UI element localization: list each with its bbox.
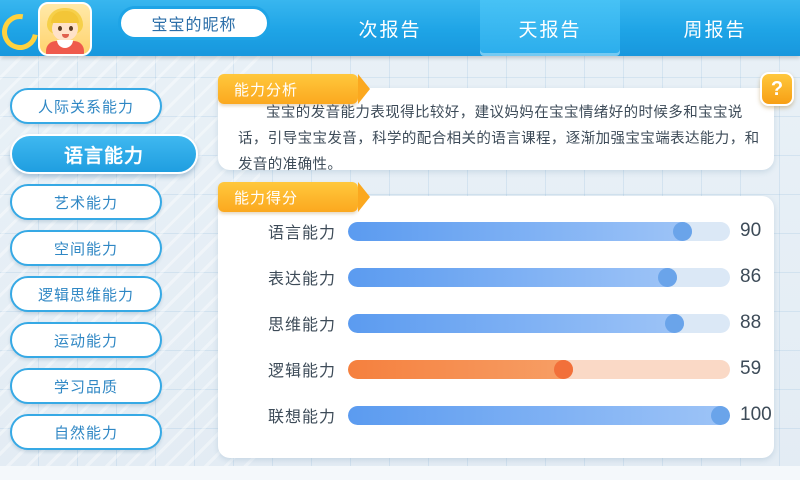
- score-row: 语言能力90: [218, 208, 774, 254]
- tab-day-report[interactable]: 天报告: [480, 0, 620, 56]
- score-bar-track: [348, 314, 730, 333]
- score-bar-knob: [554, 360, 573, 379]
- sidebar-item-label: 艺术能力: [54, 192, 118, 213]
- score-bar-knob: [665, 314, 684, 333]
- score-bar-knob: [711, 406, 730, 425]
- top-bar: 宝宝的昵称 次报告 天报告 周报告: [0, 0, 800, 56]
- sidebar: 人际关系能力 语言能力 艺术能力 空间能力 逻辑思维能力 运动能力 学习品质 自…: [10, 88, 162, 460]
- sidebar-item-label: 运动能力: [54, 330, 118, 351]
- sidebar-item-language[interactable]: 语言能力: [10, 134, 198, 174]
- sidebar-item-spatial[interactable]: 空间能力: [10, 230, 162, 266]
- score-row-value: 90: [740, 220, 790, 242]
- score-bar-fill: [348, 222, 692, 241]
- score-chart: 语言能力90表达能力86思维能力88逻辑能力59联想能力100: [218, 208, 774, 438]
- score-bar-fill: [348, 406, 730, 425]
- tab-ci-report-label: 次报告: [358, 15, 421, 42]
- score-row-label: 联想能力: [240, 403, 336, 427]
- tab-week-report[interactable]: 周报告: [640, 0, 790, 56]
- score-row-label: 语言能力: [240, 219, 336, 243]
- score-bar-track: [348, 222, 730, 241]
- sidebar-item-interpersonal[interactable]: 人际关系能力: [10, 88, 162, 124]
- score-bar-fill: [348, 268, 677, 287]
- score-row-value: 88: [740, 312, 790, 334]
- sidebar-item-label: 空间能力: [54, 238, 118, 259]
- score-tag-label: 能力得分: [234, 187, 298, 208]
- tab-day-report-label: 天报告: [518, 15, 581, 42]
- score-row-label: 逻辑能力: [240, 357, 336, 381]
- nickname-text: 宝宝的昵称: [151, 11, 236, 35]
- score-bar-fill: [348, 314, 684, 333]
- score-row-label: 表达能力: [240, 265, 336, 289]
- score-row: 联想能力100: [218, 392, 774, 438]
- help-button-label: ?: [771, 78, 783, 101]
- sidebar-item-art[interactable]: 艺术能力: [10, 184, 162, 220]
- tab-ci-report[interactable]: 次报告: [320, 0, 460, 56]
- sidebar-item-nature[interactable]: 自然能力: [10, 414, 162, 450]
- sidebar-item-label: 自然能力: [54, 422, 118, 443]
- sidebar-item-label: 逻辑思维能力: [38, 284, 134, 305]
- score-bar-fill: [348, 360, 573, 379]
- help-button[interactable]: ?: [760, 72, 794, 106]
- bottom-strip: [0, 466, 800, 480]
- score-bar-track: [348, 406, 730, 425]
- sidebar-item-motor[interactable]: 运动能力: [10, 322, 162, 358]
- score-row: 思维能力88: [218, 300, 774, 346]
- score-row: 表达能力86: [218, 254, 774, 300]
- sidebar-item-learning-quality[interactable]: 学习品质: [10, 368, 162, 404]
- score-bar-knob: [673, 222, 692, 241]
- score-row-value: 86: [740, 266, 790, 288]
- tab-week-report-label: 周报告: [683, 15, 746, 42]
- score-bar-track: [348, 268, 730, 287]
- sidebar-item-label: 学习品质: [54, 376, 118, 397]
- nickname-field[interactable]: 宝宝的昵称: [118, 6, 270, 40]
- score-row: 逻辑能力59: [218, 346, 774, 392]
- score-bar-track: [348, 360, 730, 379]
- score-row-label: 思维能力: [240, 311, 336, 335]
- sidebar-item-label: 人际关系能力: [38, 96, 134, 117]
- analysis-text: 宝宝的发音能力表现得比较好，建议妈妈在宝宝情绪好的时候多和宝宝说话，引导宝宝发音…: [238, 100, 760, 178]
- score-row-value: 100: [740, 404, 790, 426]
- score-row-value: 59: [740, 358, 790, 380]
- score-bar-knob: [658, 268, 677, 287]
- child-avatar[interactable]: [38, 2, 92, 56]
- sidebar-item-logical-thinking[interactable]: 逻辑思维能力: [10, 276, 162, 312]
- sidebar-item-label: 语言能力: [64, 141, 144, 168]
- analysis-tag-label: 能力分析: [234, 79, 298, 100]
